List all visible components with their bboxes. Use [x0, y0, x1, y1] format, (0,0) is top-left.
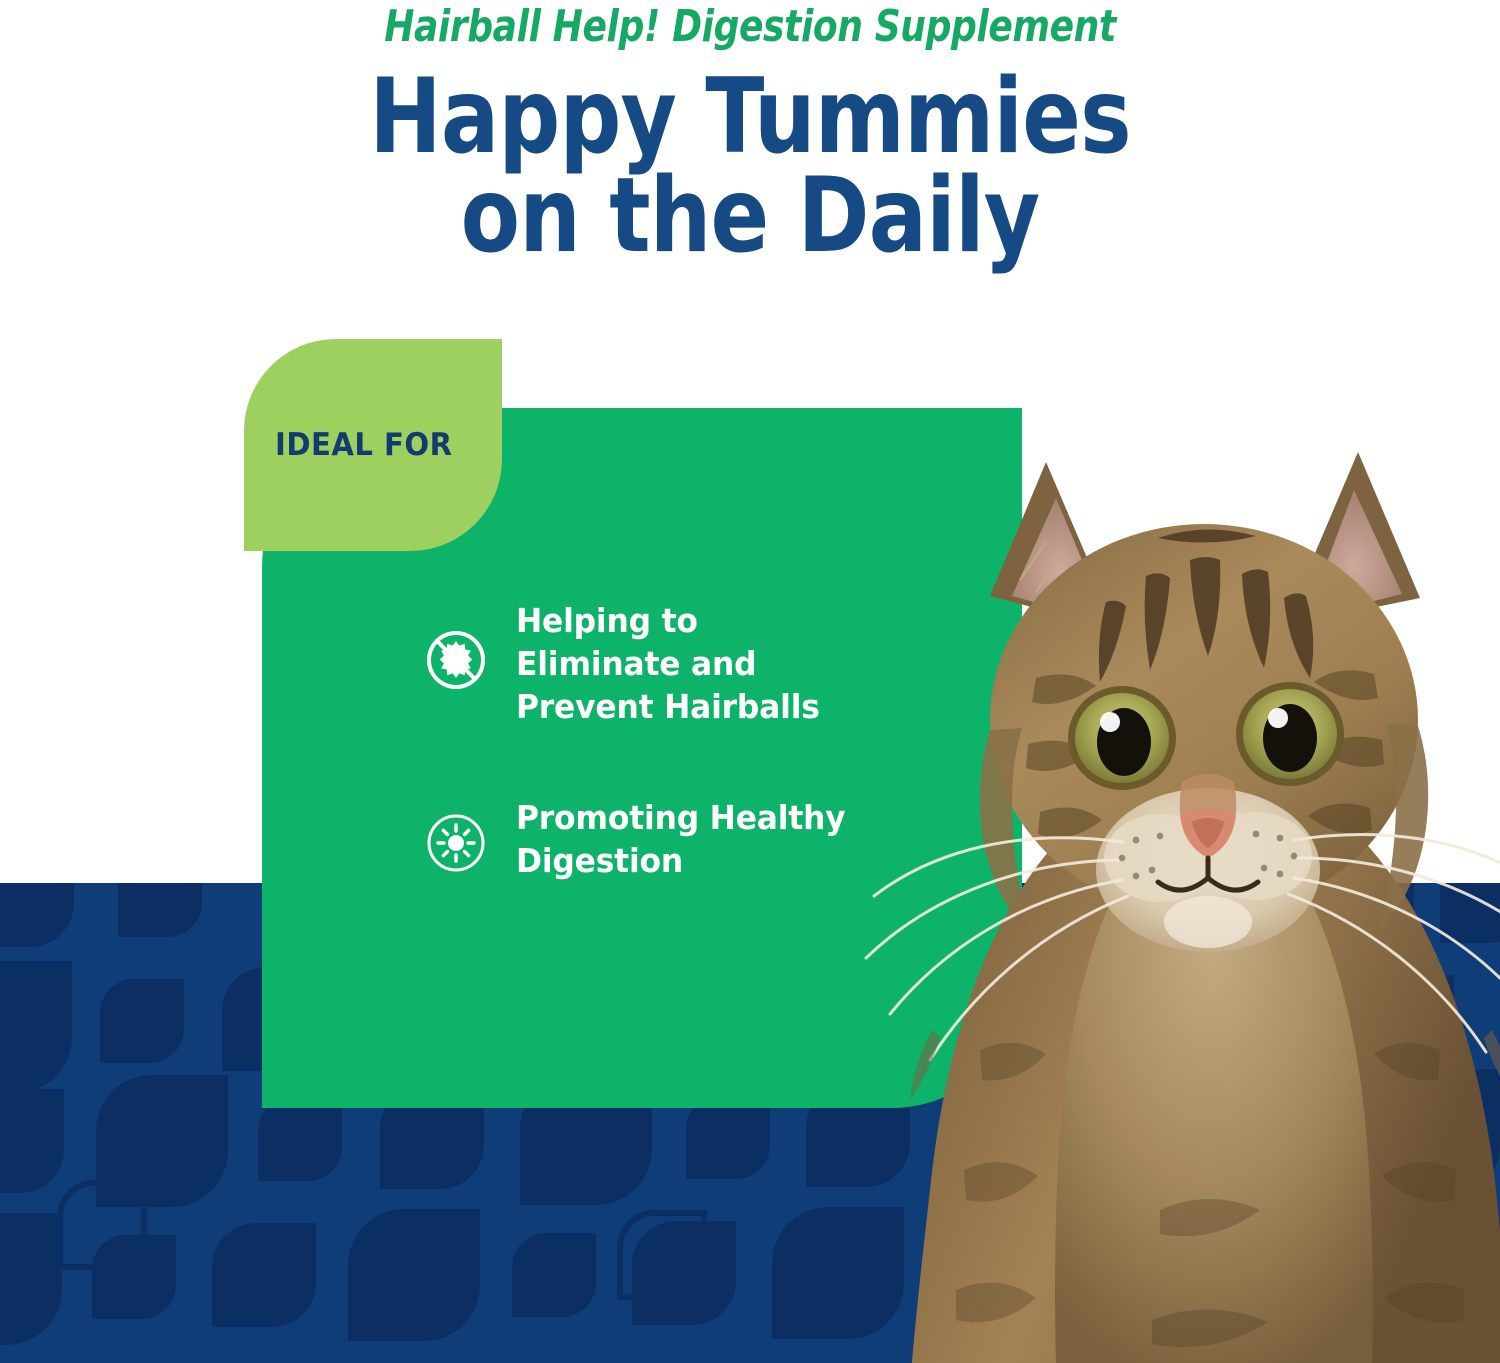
no-hairball-icon — [424, 628, 488, 692]
benefit-line: Prevent Hairballs — [516, 686, 820, 729]
page-title: Happy Tummies on the Daily — [120, 50, 1380, 266]
header-block: Hairball Help! Digestion Supplement Happ… — [0, 0, 1500, 266]
benefit-label-digestion: Promoting Healthy Digestion — [516, 797, 846, 883]
product-feature-panel: Hairball Help! Digestion Supplement Happ… — [0, 0, 1500, 1363]
cat-photo — [860, 330, 1500, 1363]
benefit-line: Eliminate and — [516, 643, 820, 686]
ideal-for-badge-label: IDEAL FOR — [244, 427, 453, 463]
headline-line-2: on the Daily — [120, 167, 1380, 266]
tabby-cat-illustration — [860, 330, 1500, 1363]
benefit-line: Promoting Healthy — [516, 797, 846, 840]
benefit-label-hairballs: Helping to Eliminate and Prevent Hairbal… — [516, 600, 820, 729]
sun-digestion-icon — [424, 811, 488, 875]
ideal-for-badge: IDEAL FOR — [244, 339, 502, 551]
benefit-line: Digestion — [516, 840, 846, 883]
benefit-line: Helping to — [516, 600, 820, 643]
eyebrow-text: Hairball Help! Digestion Supplement — [135, 0, 1365, 50]
